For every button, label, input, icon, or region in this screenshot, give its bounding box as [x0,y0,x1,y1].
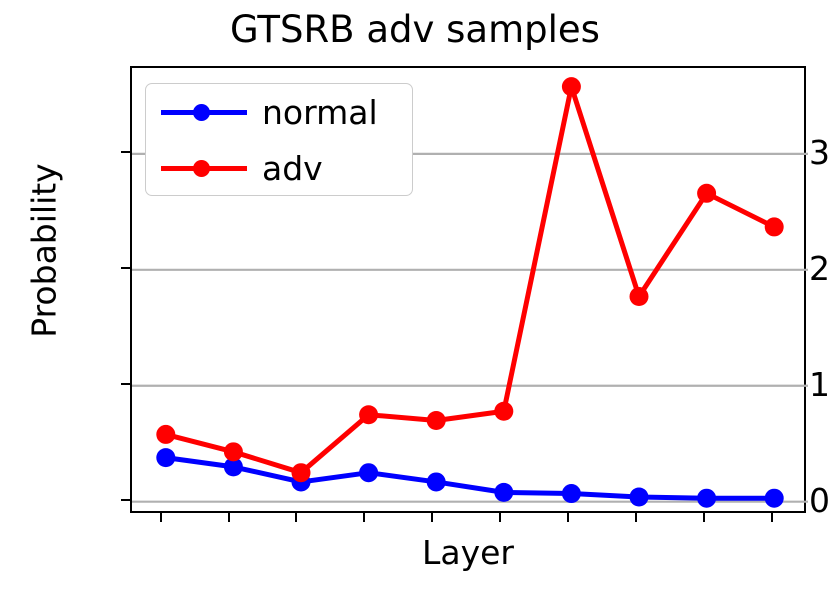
legend-marker-adv [193,160,210,177]
x-axis-label: Layer [130,533,806,572]
data-point-normal-5[interactable] [494,483,513,502]
legend-item-adv[interactable]: adv [146,140,414,196]
legend-marker-normal [193,104,210,121]
data-point-normal-0[interactable] [156,448,175,467]
data-point-normal-8[interactable] [697,489,716,508]
legend-item-normal[interactable]: normal [146,84,414,140]
data-point-adv-1[interactable] [224,442,243,461]
data-point-adv-8[interactable] [697,184,716,203]
data-point-normal-7[interactable] [630,488,649,507]
legend-label-adv: adv [262,152,323,185]
y-tick-mark-2 [121,383,130,385]
data-point-adv-4[interactable] [427,411,446,430]
data-point-adv-3[interactable] [359,405,378,424]
data-point-adv-6[interactable] [562,77,581,96]
data-point-adv-2[interactable] [292,463,311,482]
data-point-normal-6[interactable] [562,484,581,503]
chart-legend: normal adv [145,83,413,196]
data-point-normal-3[interactable] [359,463,378,482]
data-point-normal-9[interactable] [765,489,784,508]
chart-figure: GTSRB adv samples Probability Layer 0.3 … [0,0,830,590]
y-tick-mark-3 [121,499,130,501]
legend-swatch-normal [158,99,250,125]
legend-swatch-adv [158,155,250,181]
data-point-adv-0[interactable] [156,425,175,444]
y-axis-label: Probability [25,101,64,401]
series-line-normal [166,458,774,499]
legend-label-normal: normal [262,96,378,129]
y-tick-mark-1 [121,267,130,269]
data-point-adv-9[interactable] [765,217,784,236]
chart-title: GTSRB adv samples [0,6,830,54]
y-tick-mark-0 [121,151,130,153]
data-point-normal-4[interactable] [427,472,446,491]
data-point-adv-5[interactable] [494,402,513,421]
data-point-adv-7[interactable] [630,287,649,306]
